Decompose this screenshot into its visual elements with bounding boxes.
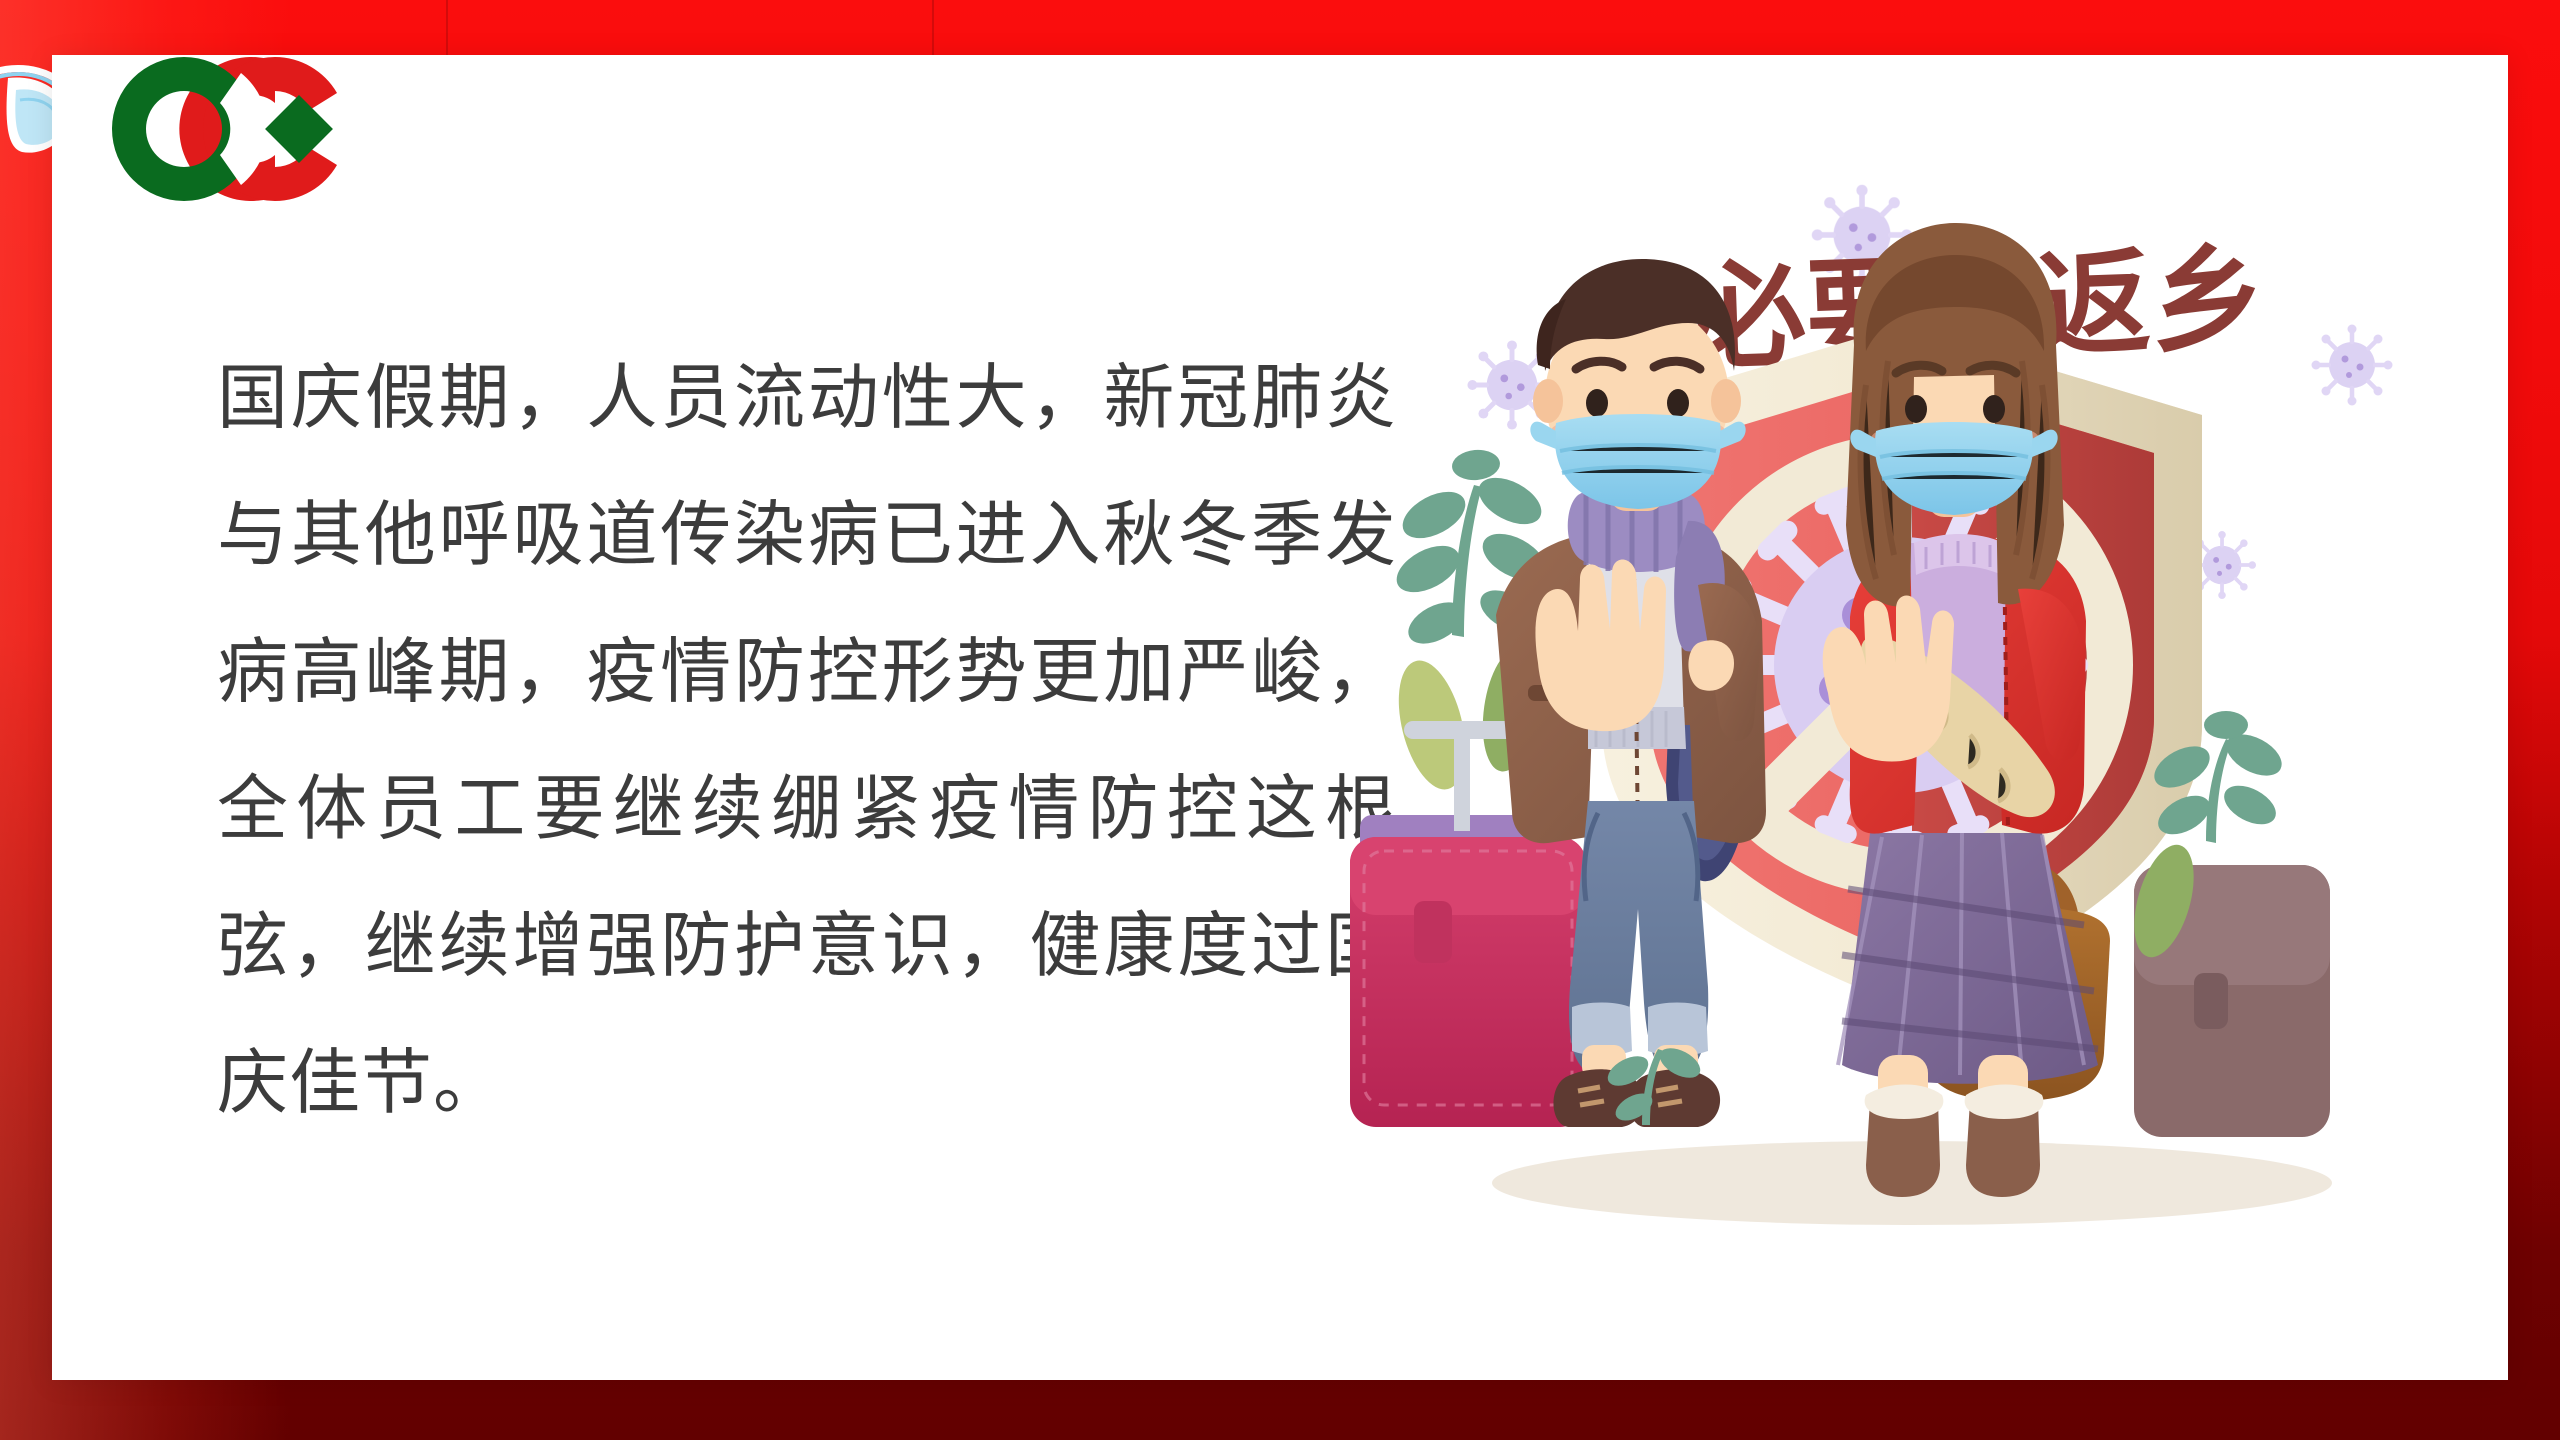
body-paragraph: 国庆假期，人员流动性大，新冠肺炎与其他呼吸道传染病已进入秋冬季发病高峰期，疫情防… xyxy=(217,330,1397,1152)
body-copy: 国庆假期，人员流动性大，新冠肺炎与其他呼吸道传染病已进入秋冬季发病高峰期，疫情防… xyxy=(217,330,1397,1152)
slide-canvas: 国庆假期，人员流动性大，新冠肺炎与其他呼吸道传染病已进入秋冬季发病高峰期，疫情防… xyxy=(0,0,2560,1440)
double-c-logo-icon xyxy=(72,43,342,233)
content-card: 国庆假期，人员流动性大，新冠肺炎与其他呼吸道传染病已进入秋冬季发病高峰期，疫情防… xyxy=(52,55,2508,1380)
brand-logo[interactable] xyxy=(72,43,342,233)
stay-home-poster-illustration: 非必要不返乡 xyxy=(1342,165,2502,1295)
